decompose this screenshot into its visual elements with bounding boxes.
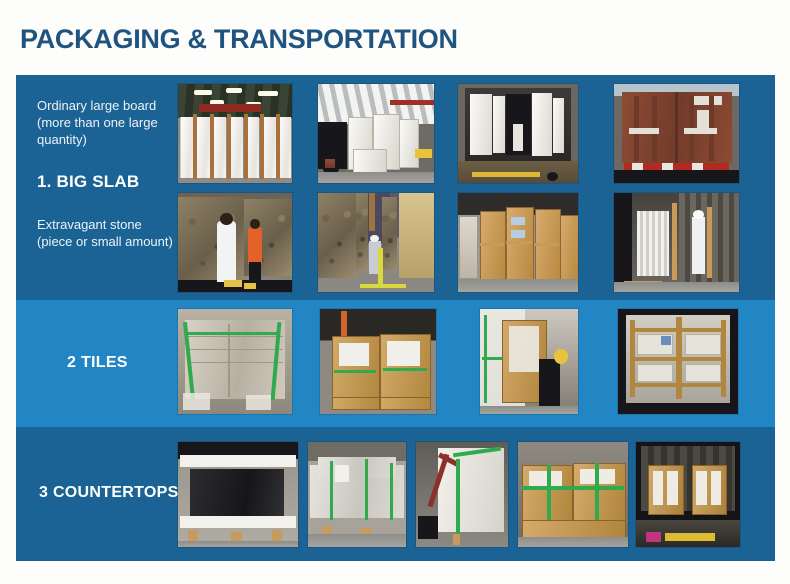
caption-extravagant-stone: Extravagant stone (piece or small amount… [37, 216, 177, 250]
photo-container-slab-loading [458, 84, 578, 183]
photo-workers-inspecting-granite [178, 193, 292, 292]
photo-warehouse-wrapped-slabs [178, 84, 292, 183]
row-big-slab: Ordinary large board (more than one larg… [16, 75, 775, 300]
page-title: PACKAGING & TRANSPORTATION [20, 24, 458, 55]
photo-slab-aisle-worker [318, 193, 434, 292]
photo-tile-container-loaded [618, 309, 738, 414]
label-column-big-slab: Ordinary large board (more than one larg… [16, 75, 181, 300]
packaging-panel: Ordinary large board (more than one larg… [16, 75, 775, 561]
label-column-tiles: 2 TILES [16, 300, 181, 427]
photo-tile-pallets-crated [320, 309, 436, 414]
photo-countertop-crates-pallet [518, 442, 628, 547]
label-column-countertops: 3 COUNTERTOPS [16, 427, 181, 561]
photo-container-rear-doors [614, 84, 739, 183]
photo-crated-slabs-outdoor [458, 193, 578, 292]
photo-countertop-container-loaded [636, 442, 740, 547]
photo-black-countertop-crate [178, 442, 298, 547]
row-countertops: 3 COUNTERTOPS [16, 427, 775, 561]
row-label-countertops: 3 COUNTERTOPS [39, 484, 179, 501]
photo-worker-container-slabs [614, 193, 739, 292]
photo-marble-countertops-strapped [308, 442, 406, 547]
row-label-big-slab: 1. BIG SLAB [37, 173, 177, 190]
row-tiles: 2 TILES [16, 300, 775, 427]
caption-ordinary-large-board: Ordinary large board (more than one larg… [37, 97, 177, 148]
photo-tile-stack-strapped [178, 309, 292, 414]
photo-wrapped-countertop-bundle [416, 442, 508, 547]
photo-truck-loading-slabs [318, 84, 434, 183]
photo-tile-crate-loading [480, 309, 578, 414]
